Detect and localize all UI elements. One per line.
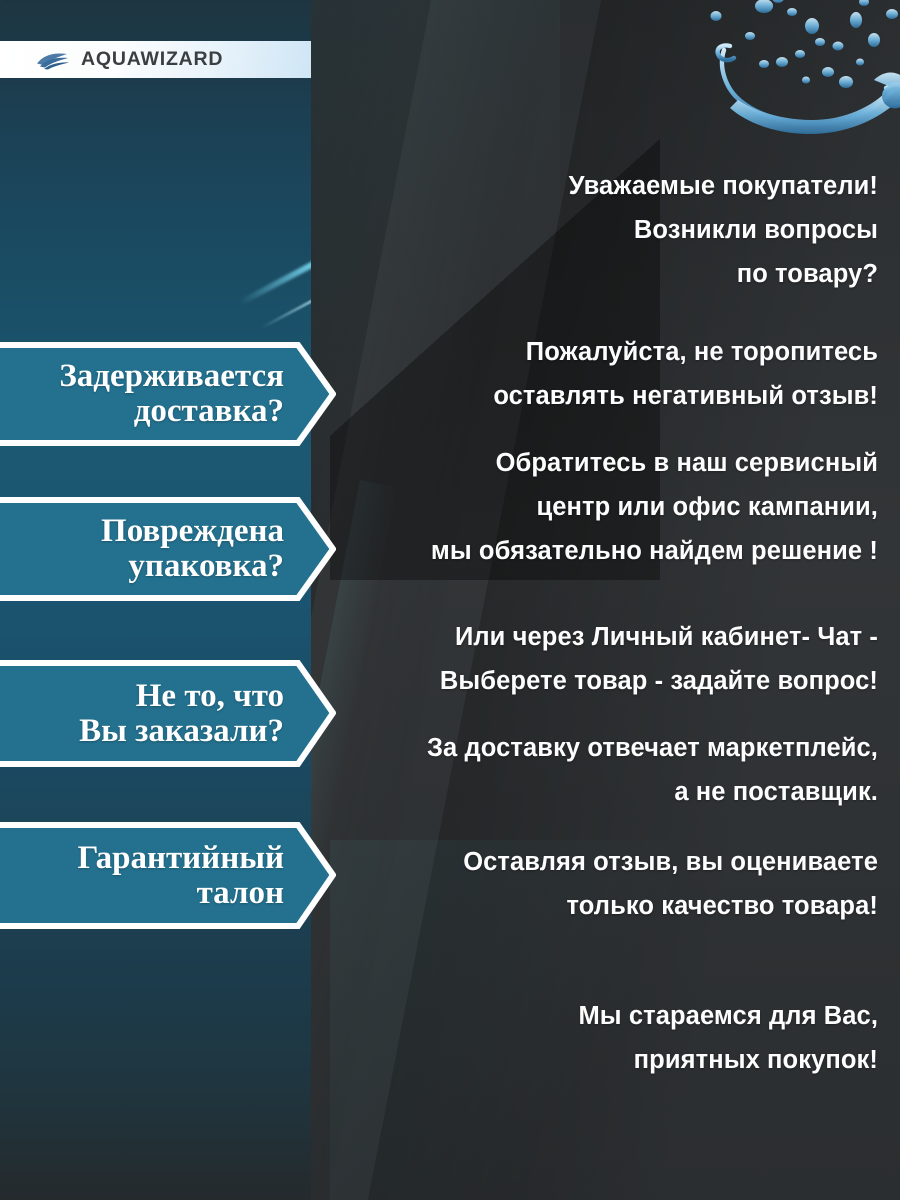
message-paragraph: Обратитесь в наш сервисный центр или офи… xyxy=(330,441,878,573)
sidebar-item-label: Задерживается доставка? xyxy=(59,359,336,429)
message-paragraph: За доставку отвечает маркетплейс, а не п… xyxy=(330,726,878,814)
sidebar-item-label: Повреждена упаковка? xyxy=(101,514,336,584)
message-paragraph: Уважаемые покупатели! Возникли вопросы п… xyxy=(330,164,878,296)
promo-banner: AQUAWIZARD Задерживается доставка? Повре… xyxy=(0,0,900,1200)
water-wave-icon xyxy=(36,50,72,70)
sidebar-item-label: Не то, что Вы заказали? xyxy=(79,679,336,749)
message-paragraph: Оставляя отзыв, вы оцениваете только кач… xyxy=(330,840,878,928)
sidebar-item-packaging-damaged[interactable]: Повреждена упаковка? xyxy=(0,497,336,601)
brand-name: AQUAWIZARD xyxy=(81,48,223,71)
brand-logo: AQUAWIZARD xyxy=(0,41,311,78)
message-paragraph: Пожалуйста, не торопитесь оставлять нега… xyxy=(330,330,878,418)
sidebar-item-label: Гарантийный талон xyxy=(78,841,337,911)
sidebar-item-warranty-card[interactable]: Гарантийный талон xyxy=(0,822,336,929)
message-paragraph: Мы стараемся для Вас, приятных покупок! xyxy=(330,994,878,1082)
message-column: Уважаемые покупатели! Возникли вопросы п… xyxy=(330,0,900,1200)
sidebar-item-wrong-item[interactable]: Не то, что Вы заказали? xyxy=(0,660,336,767)
sidebar-item-delivery-delayed[interactable]: Задерживается доставка? xyxy=(0,342,336,446)
message-paragraph: Или через Личный кабинет- Чат - Выберете… xyxy=(330,615,878,703)
